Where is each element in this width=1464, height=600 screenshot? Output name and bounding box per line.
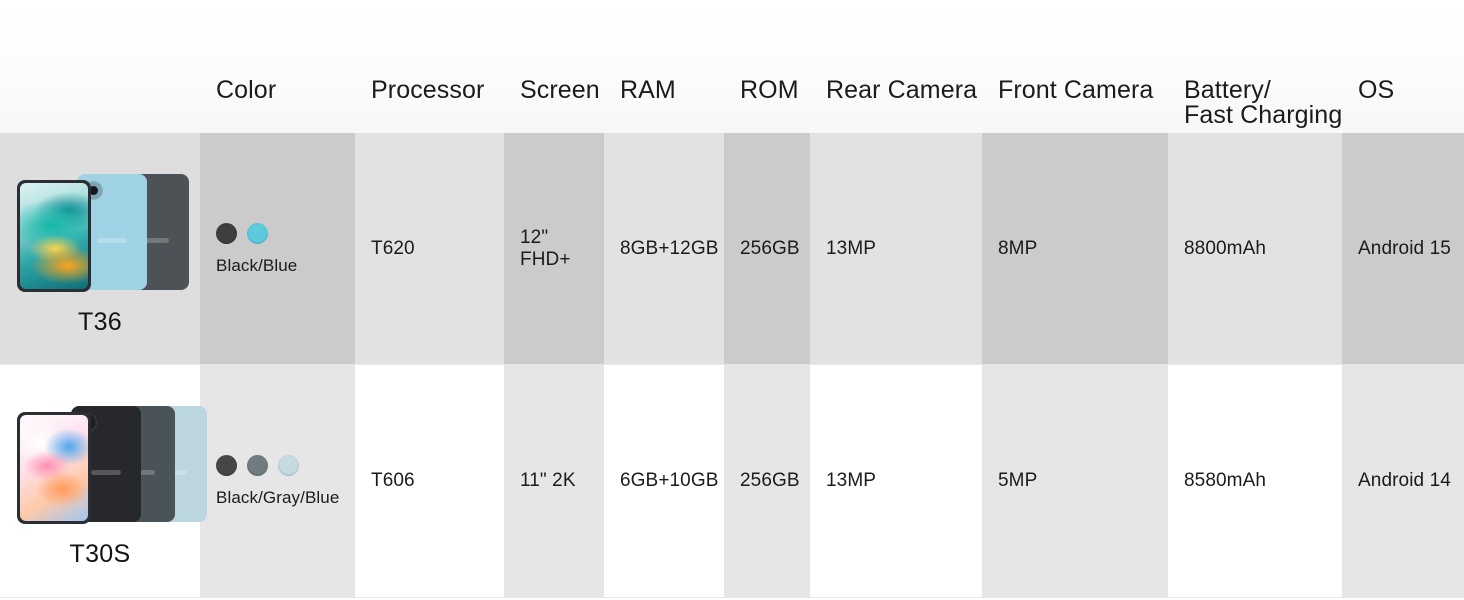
cell-value-os: Android 14 <box>1358 470 1464 492</box>
gray-swatch[interactable] <box>247 455 268 476</box>
column-header-color: Color <box>216 78 276 103</box>
cell-rear_camera: 13MP <box>826 133 982 365</box>
black-swatch[interactable] <box>216 223 237 244</box>
cell-value-front_camera: 8MP <box>998 238 1168 260</box>
cell-value-rear_camera: 13MP <box>826 238 982 260</box>
cell-os: Android 15 <box>1358 133 1464 365</box>
cell-screen: 12" FHD+ <box>520 133 604 365</box>
column-header-battery: Battery/ Fast Charging <box>1184 78 1342 128</box>
column-header-os: OS <box>1358 78 1394 103</box>
product-name: T36 <box>78 308 122 337</box>
column-header-rear_camera: Rear Camera <box>826 78 977 103</box>
cell-value-os: Android 15 <box>1358 238 1464 260</box>
column-header-ram: RAM <box>620 78 676 103</box>
column-header-front_camera: Front Camera <box>998 78 1153 103</box>
row-divider <box>0 597 1464 598</box>
table-header: ColorProcessorScreenRAMROMRear CameraFro… <box>0 0 1464 133</box>
tablet-comparison-table: T36Black/BlueT62012" FHD+8GB+12GB256GB13… <box>0 0 1464 600</box>
color-swatches[interactable] <box>216 223 268 244</box>
color-names: Black/Blue <box>216 256 297 276</box>
cell-color: Black/Blue <box>216 133 355 365</box>
cell-value-battery: 8580mAh <box>1184 470 1342 492</box>
row-divider <box>0 364 1464 365</box>
cell-value-ram: 8GB+12GB <box>620 238 724 260</box>
column-header-processor: Processor <box>371 78 484 103</box>
product-cell-t36[interactable]: T36 <box>0 133 200 365</box>
table-row: T30SBlack/Gray/BlueT60611" 2K6GB+10GB256… <box>0 365 1464 597</box>
color-swatches[interactable] <box>216 455 299 476</box>
cell-battery: 8800mAh <box>1184 133 1342 365</box>
tablet-front-screen <box>17 180 91 292</box>
cell-value-ram: 6GB+10GB <box>620 470 724 492</box>
brand-logo <box>97 238 127 243</box>
cell-processor: T606 <box>371 365 504 597</box>
cell-battery: 8580mAh <box>1184 365 1342 597</box>
cell-rom: 256GB <box>740 365 810 597</box>
blue-swatch[interactable] <box>278 455 299 476</box>
black-swatch[interactable] <box>216 455 237 476</box>
product-name: T30S <box>70 540 131 569</box>
color-names: Black/Gray/Blue <box>216 488 339 508</box>
column-header-rom: ROM <box>740 78 799 103</box>
cell-value-screen: 11" 2K <box>520 470 604 492</box>
cell-value-rom: 256GB <box>740 470 810 492</box>
cell-color: Black/Gray/Blue <box>216 365 355 597</box>
cell-front_camera: 5MP <box>998 365 1168 597</box>
cell-value-processor: T606 <box>371 470 504 492</box>
blue-swatch[interactable] <box>247 223 268 244</box>
wallpaper <box>20 183 88 289</box>
cell-ram: 8GB+12GB <box>620 133 724 365</box>
product-image <box>11 162 189 302</box>
wallpaper <box>20 415 88 521</box>
cell-value-battery: 8800mAh <box>1184 238 1342 260</box>
cell-value-rear_camera: 13MP <box>826 470 982 492</box>
wallpaper-art <box>20 415 88 521</box>
cell-value-front_camera: 5MP <box>998 470 1168 492</box>
cell-os: Android 14 <box>1358 365 1464 597</box>
cell-value-screen: 12" FHD+ <box>520 227 604 271</box>
cell-value-rom: 256GB <box>740 238 810 260</box>
cell-processor: T620 <box>371 133 504 365</box>
brand-logo <box>91 470 121 475</box>
wallpaper-art <box>20 183 88 289</box>
table-row: T36Black/BlueT62012" FHD+8GB+12GB256GB13… <box>0 133 1464 365</box>
tablet-front-screen <box>17 412 91 524</box>
product-cell-t30s[interactable]: T30S <box>0 365 200 597</box>
column-header-screen: Screen <box>520 78 600 103</box>
cell-value-processor: T620 <box>371 238 504 260</box>
cell-front_camera: 8MP <box>998 133 1168 365</box>
product-image <box>11 394 189 534</box>
cell-screen: 11" 2K <box>520 365 604 597</box>
cell-ram: 6GB+10GB <box>620 365 724 597</box>
cell-rear_camera: 13MP <box>826 365 982 597</box>
cell-rom: 256GB <box>740 133 810 365</box>
